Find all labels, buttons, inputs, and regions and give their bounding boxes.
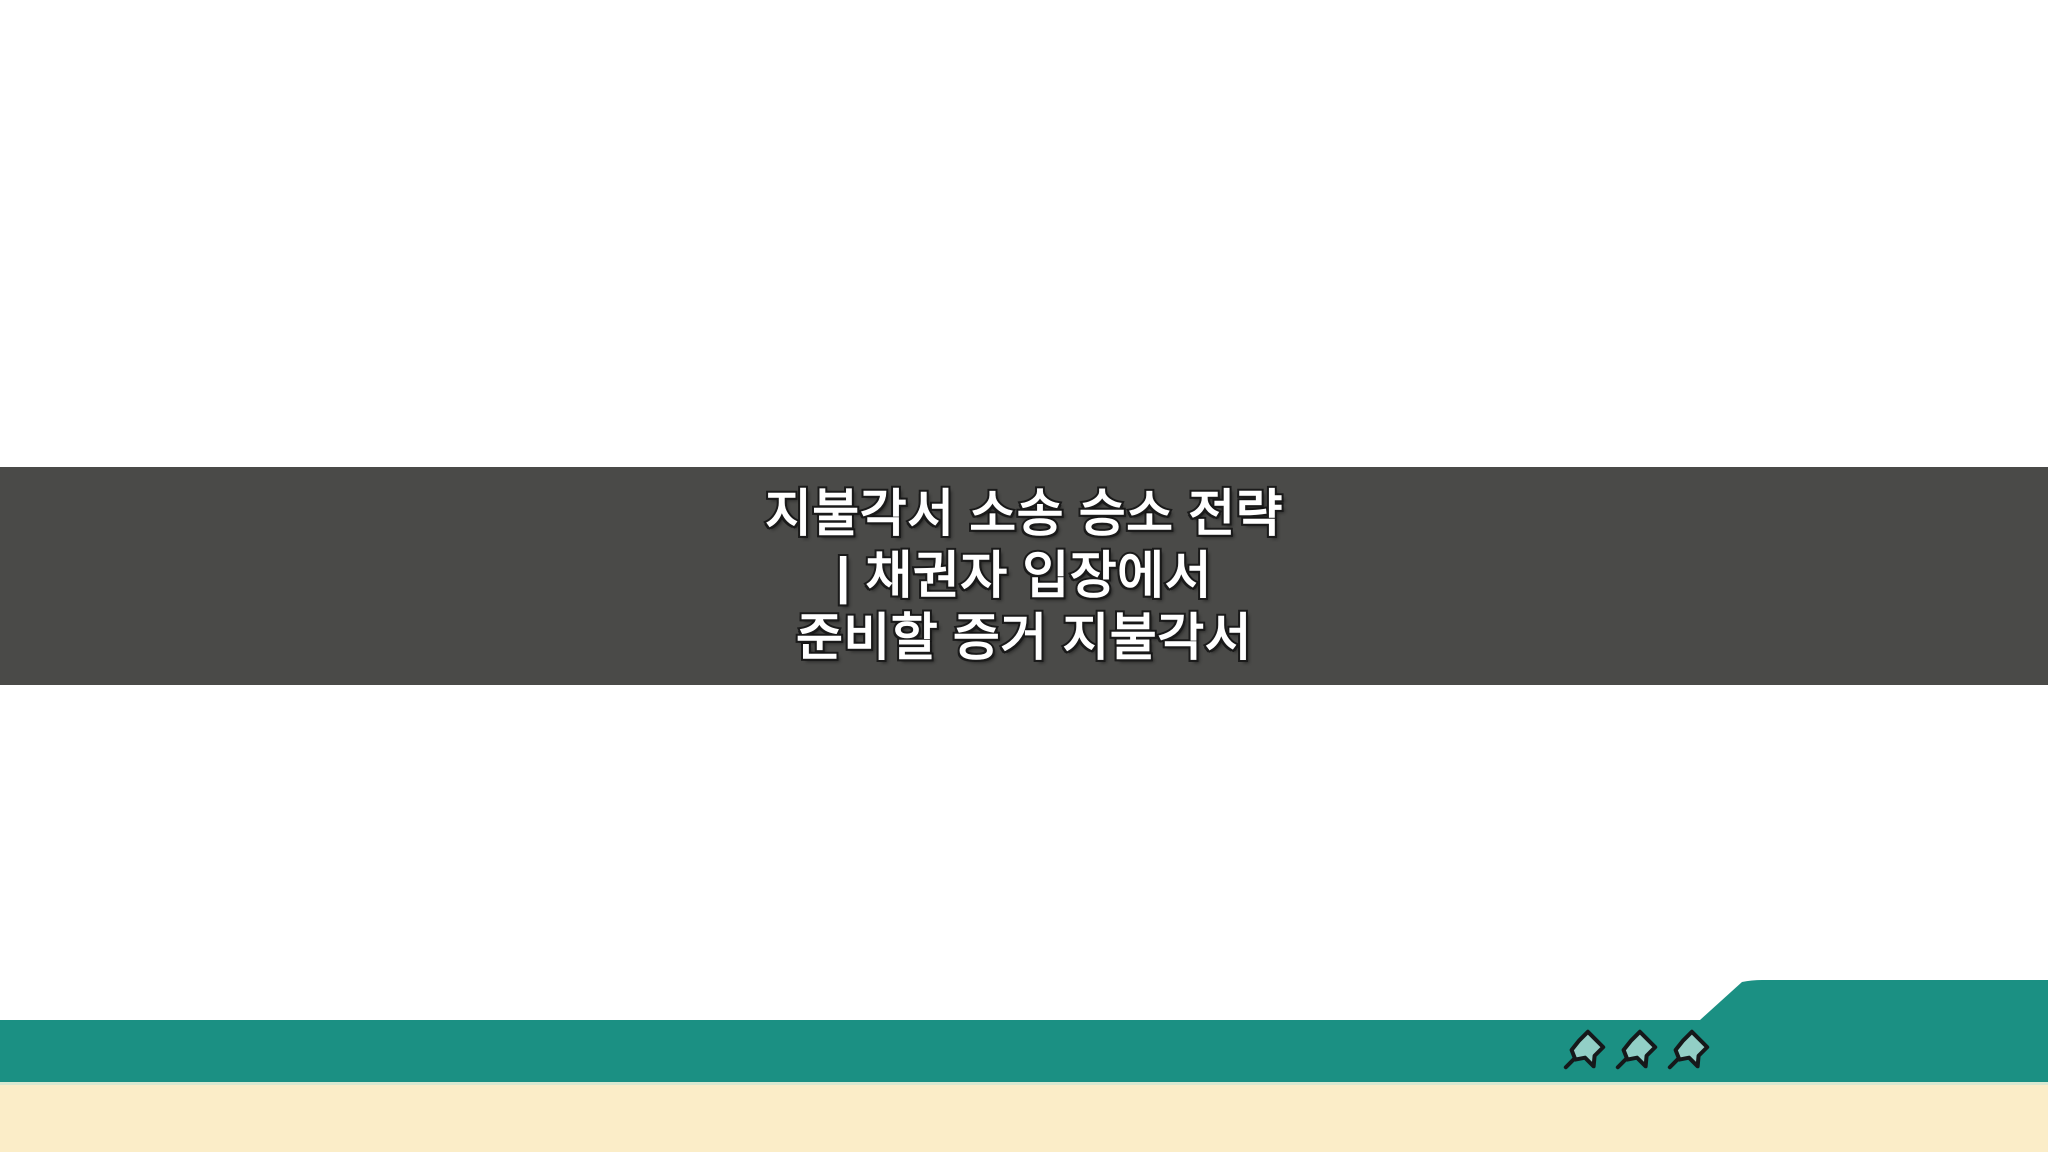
footer-teal-shape bbox=[0, 960, 2048, 1090]
teal-band-path bbox=[0, 980, 2048, 1082]
title-line-2: | 채권자 입장에서 bbox=[836, 545, 1212, 607]
page-canvas: 지불각서 소송 승소 전략 | 채권자 입장에서 준비할 증거 지불각서 bbox=[0, 0, 2048, 1152]
blank-area-top bbox=[0, 0, 2048, 467]
title-line-3: 준비할 증거 지불각서 bbox=[796, 607, 1252, 669]
pushpin-icon-1 bbox=[1562, 1027, 1608, 1073]
title-banner: 지불각서 소송 승소 전략 | 채권자 입장에서 준비할 증거 지불각서 bbox=[0, 467, 2048, 685]
pushpin-icon-group bbox=[1562, 1026, 1722, 1074]
pushpin-icon-2 bbox=[1614, 1027, 1660, 1073]
title-line-1: 지불각서 소송 승소 전략 bbox=[765, 483, 1283, 545]
footer-cream-band bbox=[0, 1085, 2048, 1152]
pushpin-icon-3 bbox=[1666, 1027, 1712, 1073]
blank-area-middle bbox=[0, 685, 2048, 980]
